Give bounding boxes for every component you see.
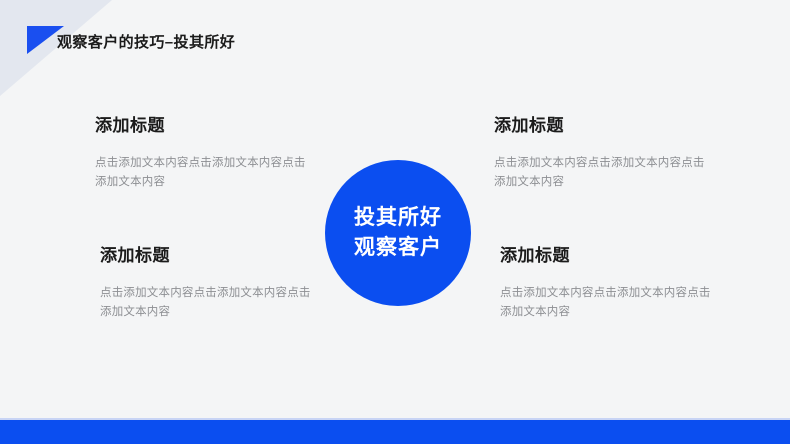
slide-header: 观察客户的技巧–投其所好 bbox=[0, 0, 790, 70]
center-circle-badge: 投其所好 观察客户 bbox=[325, 160, 471, 306]
page-title: 观察客户的技巧–投其所好 bbox=[57, 31, 235, 52]
slide-canvas: 观察客户的技巧–投其所好 添加标题 点击添加文本内容点击添加文本内容点击添加文本… bbox=[0, 0, 790, 444]
content-block-top-left: 添加标题 点击添加文本内容点击添加文本内容点击添加文本内容 bbox=[95, 111, 307, 192]
block-title: 添加标题 bbox=[500, 241, 712, 266]
content-block-bottom-left: 添加标题 点击添加文本内容点击添加文本内容点击添加文本内容 bbox=[100, 241, 312, 322]
footer-bar bbox=[0, 420, 790, 444]
content-block-top-right: 添加标题 点击添加文本内容点击添加文本内容点击添加文本内容 bbox=[494, 111, 706, 192]
block-body: 点击添加文本内容点击添加文本内容点击添加文本内容 bbox=[95, 154, 307, 192]
center-circle-line-1: 投其所好 bbox=[354, 203, 442, 233]
block-title: 添加标题 bbox=[494, 111, 706, 136]
center-circle-line-2: 观察客户 bbox=[354, 233, 442, 263]
content-block-bottom-right: 添加标题 点击添加文本内容点击添加文本内容点击添加文本内容 bbox=[500, 241, 712, 322]
block-body: 点击添加文本内容点击添加文本内容点击添加文本内容 bbox=[500, 284, 712, 322]
block-title: 添加标题 bbox=[95, 111, 307, 136]
block-body: 点击添加文本内容点击添加文本内容点击添加文本内容 bbox=[100, 284, 312, 322]
block-body: 点击添加文本内容点击添加文本内容点击添加文本内容 bbox=[494, 154, 706, 192]
block-title: 添加标题 bbox=[100, 241, 312, 266]
